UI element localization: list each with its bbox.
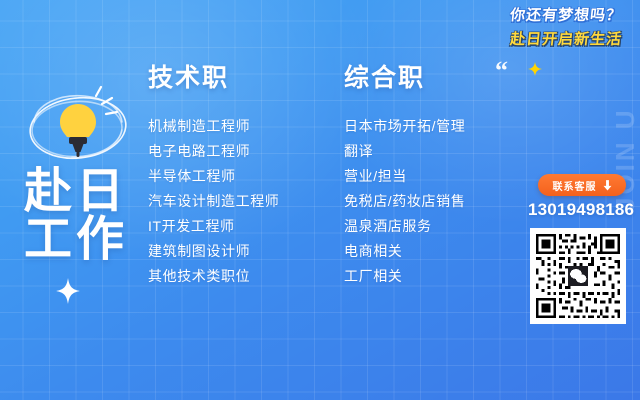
brand-title-line-1: 赴日 [24, 165, 128, 218]
job-column-tech: 技术职 机械制造工程师 电子电路工程师 半导体工程师 汽车设计制造工程师 IT开… [148, 64, 279, 289]
qr-code-image [530, 228, 626, 324]
job-list-tech: 机械制造工程师 电子电路工程师 半导体工程师 汽车设计制造工程师 IT开发工程师… [148, 114, 279, 289]
four-point-star-yellow-icon [528, 62, 542, 76]
quote-mark-icon: “ [495, 58, 508, 84]
qr-code[interactable] [530, 228, 626, 324]
lightbulb-icon [22, 78, 134, 174]
job-list-general: 日本市场开拓/管理 翻译 营业/担当 免税店/药妆店销售 温泉酒店服务 电商相关… [344, 114, 465, 289]
list-item: 汽车设计制造工程师 [148, 189, 279, 214]
list-item: 温泉酒店服务 [344, 214, 465, 239]
list-item: 其他技术类职位 [148, 264, 279, 289]
poster-canvas: JOIN U 你还有梦想吗？ 赴日开启新生活 “ [0, 0, 640, 400]
brand-title: 赴日 工作 [24, 168, 128, 264]
slogan-block: 你还有梦想吗？ 赴日开启新生活 [510, 6, 622, 51]
arrow-down-icon [603, 180, 612, 191]
list-item: 半导体工程师 [148, 164, 279, 189]
list-item: 电商相关 [344, 239, 465, 264]
list-item: 工厂相关 [344, 264, 465, 289]
column-heading-tech: 技术职 [148, 64, 279, 92]
four-point-star-white-icon [56, 278, 80, 304]
job-column-general: 综合职 日本市场开拓/管理 翻译 营业/担当 免税店/药妆店销售 温泉酒店服务 … [344, 64, 465, 289]
list-item: IT开发工程师 [148, 214, 279, 239]
list-item: 电子电路工程师 [148, 139, 279, 164]
list-item: 机械制造工程师 [148, 114, 279, 139]
list-item: 日本市场开拓/管理 [344, 114, 465, 139]
column-heading-general: 综合职 [344, 64, 465, 92]
slogan-line-2: 赴日开启新生活 [509, 29, 623, 51]
contact-support-label: 联系客服 [553, 178, 597, 193]
phone-number[interactable]: 13019498186 [528, 200, 632, 220]
list-item: 营业/担当 [344, 164, 465, 189]
lightbulb-badge [22, 78, 134, 174]
brand-title-line-2: 工作 [24, 216, 128, 264]
contact-support-button[interactable]: 联系客服 [538, 174, 626, 196]
list-item: 免税店/药妆店销售 [344, 189, 465, 214]
slogan-line-1: 你还有梦想吗？ [509, 6, 623, 26]
list-item: 翻译 [344, 139, 465, 164]
list-item: 建筑制图设计师 [148, 239, 279, 264]
